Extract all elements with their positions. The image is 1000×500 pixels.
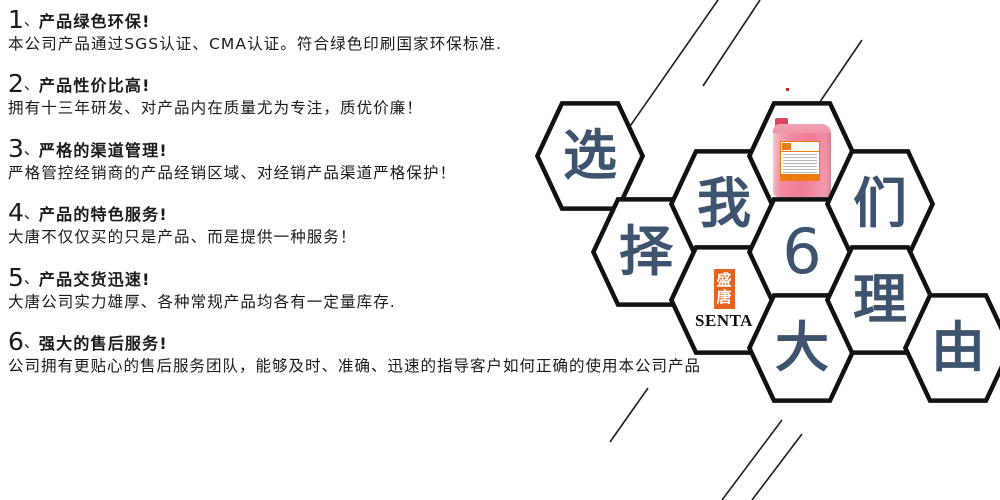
reason-6-title: 强大的售后服务! [39, 334, 168, 353]
reason-4-body: 大唐不仅仅买的只是产品、而是提供一种服务！ [8, 228, 668, 247]
reason-3-number: 3 [8, 134, 24, 163]
reason-3-title: 严格的渠道管理! [39, 141, 168, 160]
reason-item-5: 5、产品交货迅速! 大唐公司实力雄厚、各种常规产品均各有一定量库存. [8, 264, 668, 312]
reason-6-heading: 6、强大的售后服务! [8, 328, 668, 355]
hexagon-you-label: 由 [902, 292, 1000, 404]
brand-name: SENTA [695, 311, 753, 331]
reason-3-separator: 、 [24, 140, 39, 158]
promo-page: 1、产品绿色环保! 本公司产品通过SGS认证、CMA认证。符合绿色印刷国家环保标… [0, 0, 1000, 500]
reason-4-title: 产品的特色服务! [39, 205, 168, 224]
reason-2-number: 2 [8, 69, 24, 98]
reason-5-heading: 5、产品交货迅速! [8, 264, 668, 291]
reason-2-separator: 、 [24, 75, 39, 93]
product-label-footer [781, 174, 819, 180]
reason-item-1: 1、产品绿色环保! 本公司产品通过SGS认证、CMA认证。符合绿色印刷国家环保标… [8, 6, 668, 54]
reason-6-separator: 、 [24, 333, 39, 351]
reason-2-heading: 2、产品性价比高! [8, 70, 668, 97]
brand-mark-line1: 盛 [716, 272, 731, 289]
reason-1-title: 产品绿色环保! [39, 12, 151, 31]
reason-5-separator: 、 [24, 269, 39, 287]
product-label-text [781, 152, 819, 176]
reason-4-number: 4 [8, 198, 24, 227]
reason-4-separator: 、 [24, 204, 39, 222]
product-label [780, 141, 820, 181]
product-label-chip [782, 143, 791, 150]
reason-5-number: 5 [8, 263, 24, 292]
brand-mark-line2: 唐 [716, 289, 731, 306]
reason-1-number: 1 [8, 5, 24, 34]
reason-6-number: 6 [8, 327, 24, 356]
product-shoulder [773, 124, 831, 133]
reason-1-separator: 、 [24, 11, 39, 29]
reason-item-6: 6、强大的售后服务! 公司拥有更贴心的售后服务团队，能够及时、准确、迅速的指导客… [8, 328, 668, 376]
reason-1-body: 本公司产品通过SGS认证、CMA认证。符合绿色印刷国家环保标准. [8, 35, 668, 54]
reason-6-body: 公司拥有更贴心的售后服务团队，能够及时、准确、迅速的指导客户如何正确的使用本公司… [8, 357, 668, 376]
brand-mark-icon: 盛 唐 [714, 269, 735, 309]
reason-5-title: 产品交货迅速! [39, 270, 151, 289]
reason-1-heading: 1、产品绿色环保! [8, 6, 668, 33]
reason-5-body: 大唐公司实力雄厚、各种常规产品均各有一定量库存. [8, 293, 668, 312]
hexagon-you[interactable]: 由 [902, 292, 1000, 404]
reason-2-title: 产品性价比高! [39, 76, 151, 95]
product-label-header [781, 142, 819, 152]
